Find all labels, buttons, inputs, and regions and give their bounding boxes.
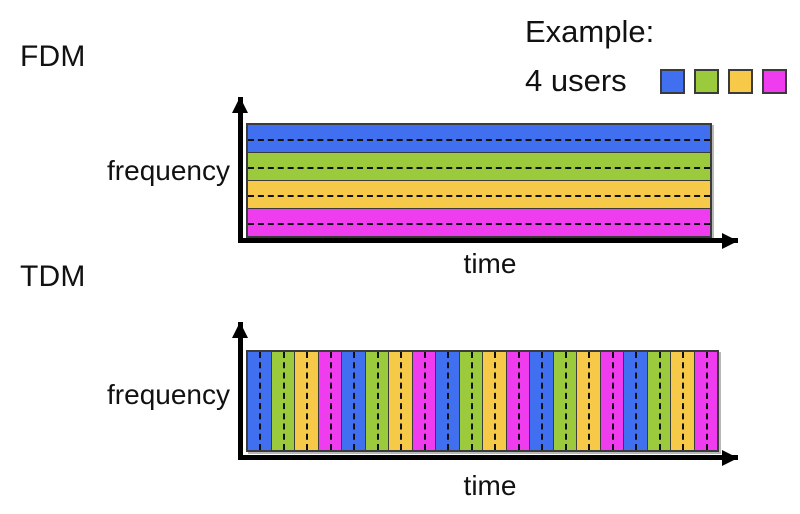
tdm-x-axis-label: time (420, 470, 560, 502)
tdm-stripe-16 (601, 352, 625, 450)
tdm-stripe-9 (436, 352, 460, 450)
tdm-stripe-19 (671, 352, 695, 450)
tdm-stripe-dash-6 (377, 352, 379, 450)
fdm-y-axis-arrow-icon (232, 97, 248, 113)
tdm-stripe-dash-9 (447, 352, 449, 450)
tdm-stripe-1 (248, 352, 272, 450)
fdm-band-user-2 (248, 153, 710, 181)
tdm-stripe-dash-10 (471, 352, 473, 450)
tdm-stripe-2 (272, 352, 296, 450)
tdm-stripe-18 (648, 352, 672, 450)
tdm-stripe-dash-13 (541, 352, 543, 450)
tdm-stripe-dash-7 (400, 352, 402, 450)
fdm-chart (238, 97, 738, 243)
fdm-band-dash-3 (248, 195, 710, 197)
tdm-stripe-17 (624, 352, 648, 450)
tdm-stripe-6 (366, 352, 390, 450)
tdm-stripe-dash-1 (259, 352, 261, 450)
tdm-stripe-dash-15 (588, 352, 590, 450)
tdm-stripe-dash-5 (353, 352, 355, 450)
tdm-stripe-dash-17 (635, 352, 637, 450)
tdm-stripe-dash-4 (330, 352, 332, 450)
tdm-y-axis-arrow-icon (232, 322, 248, 338)
tdm-stripe-dash-2 (283, 352, 285, 450)
tdm-stripe-dash-12 (518, 352, 520, 450)
fdm-band-user-1 (248, 125, 710, 153)
tdm-plot-area (246, 350, 719, 452)
legend-swatch-user-3 (728, 69, 753, 94)
fdm-band-dash-1 (248, 139, 710, 141)
tdm-x-axis-line (238, 455, 738, 460)
tdm-stripe-3 (295, 352, 319, 450)
tdm-stripe-7 (389, 352, 413, 450)
fdm-section-title: FDM (20, 40, 86, 74)
fdm-x-axis-label: time (420, 248, 560, 280)
tdm-section-title: TDM (20, 260, 86, 294)
legend-title: Example: (525, 14, 654, 50)
tdm-stripe-dash-11 (494, 352, 496, 450)
legend-title-row: Example: (505, 12, 795, 52)
legend-subtitle: 4 users (525, 63, 627, 99)
fdm-band-user-3 (248, 181, 710, 209)
fdm-band-dash-4 (248, 223, 710, 225)
tdm-stripe-dash-14 (565, 352, 567, 450)
tdm-stripe-13 (530, 352, 554, 450)
tdm-stripe-5 (342, 352, 366, 450)
tdm-stripe-dash-19 (682, 352, 684, 450)
tdm-y-axis-line (238, 322, 243, 460)
legend-swatch-user-1 (660, 69, 685, 94)
tdm-stripe-dash-8 (424, 352, 426, 450)
tdm-stripe-dash-3 (306, 352, 308, 450)
tdm-y-axis-label: frequency (60, 379, 230, 411)
legend: Example: 4 users (505, 12, 795, 101)
tdm-stripe-12 (507, 352, 531, 450)
tdm-stripe-dash-20 (706, 352, 708, 450)
tdm-stripe-11 (483, 352, 507, 450)
legend-swatch-user-4 (762, 69, 787, 94)
tdm-stripe-8 (413, 352, 437, 450)
tdm-x-axis-arrow-icon (722, 450, 738, 466)
fdm-y-axis-label: frequency (60, 155, 230, 187)
legend-swatch-group (660, 69, 787, 94)
tdm-stripe-10 (460, 352, 484, 450)
tdm-stripe-dash-16 (612, 352, 614, 450)
tdm-stripe-20 (695, 352, 718, 450)
tdm-stripe-15 (577, 352, 601, 450)
tdm-stripe-4 (319, 352, 343, 450)
tdm-chart (238, 322, 738, 460)
tdm-stripe-14 (554, 352, 578, 450)
fdm-y-axis-line (238, 97, 243, 243)
fdm-band-dash-2 (248, 167, 710, 169)
legend-swatch-user-2 (694, 69, 719, 94)
fdm-plot-area (246, 123, 712, 238)
legend-users-row: 4 users (505, 61, 795, 101)
fdm-x-axis-arrow-icon (722, 233, 738, 249)
tdm-stripe-dash-18 (659, 352, 661, 450)
fdm-x-axis-line (238, 238, 738, 243)
fdm-band-user-4 (248, 209, 710, 236)
